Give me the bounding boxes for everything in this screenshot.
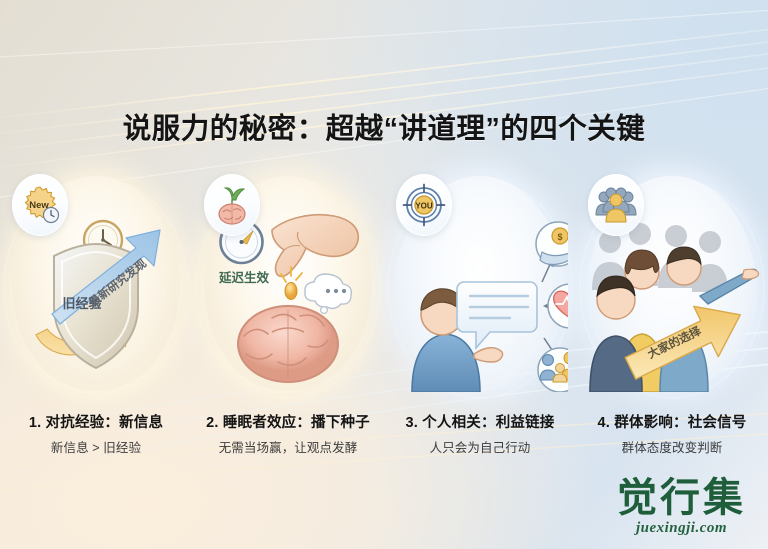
- caption-4: 4. 群体影响：社会信号 群体态度改变判断: [576, 415, 768, 456]
- caption-4-sub: 群体态度改变判断: [580, 441, 764, 456]
- caption-1: 1. 对抗经验：新信息 新信息 > 旧经验: [0, 415, 192, 456]
- panel-3-badge-chip[interactable]: YOU: [396, 174, 452, 236]
- heart-pulse-icon: [548, 284, 568, 328]
- brain-illustration: [238, 306, 338, 382]
- caption-3-sub: 人只会为自己行动: [388, 441, 572, 456]
- caption-1-sub: 新信息 > 旧经验: [4, 441, 188, 456]
- captions-row: 1. 对抗经验：新信息 新信息 > 旧经验 2. 睡眠者效应：播下种子 无需当场…: [0, 415, 768, 456]
- panel-3[interactable]: YOU: [384, 168, 576, 400]
- speech-bubble: [457, 282, 537, 348]
- svg-text:$: $: [557, 232, 562, 242]
- money-hand-icon: $: [536, 222, 568, 266]
- family-icon: [538, 348, 568, 392]
- brain-sprout-icon: [211, 183, 253, 227]
- caption-4-head: 4. 群体影响：社会信号: [580, 415, 764, 432]
- crowd-group-icon: [594, 185, 638, 225]
- caption-3-head: 3. 个人相关：利益链接: [388, 415, 572, 432]
- target-you-icon: YOU: [402, 183, 446, 227]
- new-burst-clock-icon: New: [18, 183, 62, 227]
- caption-2-head: 2. 睡眠者效应：播下种子: [196, 415, 380, 432]
- caption-2: 2. 睡眠者效应：播下种子 无需当场赢，让观点发酵: [192, 415, 384, 456]
- stopwatch-label: 延迟生效: [218, 270, 270, 285]
- page-title: 说服力的秘密：超越“讲道理”的四个关键: [0, 106, 768, 147]
- panel-4-badge-chip[interactable]: [588, 174, 644, 236]
- panel-4[interactable]: 大家的选择: [576, 168, 768, 400]
- panels-row: New: [0, 168, 768, 400]
- page-title-wrap: 说服力的秘密：超越“讲道理”的四个关键: [0, 106, 768, 147]
- hand-dropping-seed: [272, 215, 358, 277]
- caption-2-sub: 无需当场赢，让观点发酵: [196, 441, 380, 456]
- panel-2[interactable]: 延迟生效: [192, 168, 384, 400]
- watermark-en: juexingji.com: [617, 520, 746, 537]
- panel-2-badge-chip[interactable]: [204, 174, 260, 236]
- panel-1[interactable]: New: [0, 168, 192, 400]
- caption-1-head: 1. 对抗经验：新信息: [4, 415, 188, 432]
- caption-3: 3. 个人相关：利益链接 人只会为自己行动: [384, 415, 576, 456]
- you-badge-label: YOU: [415, 202, 433, 211]
- infographic-poster: 说服力的秘密：超越“讲道理”的四个关键 New: [0, 0, 768, 549]
- watermark-cn: 觉行集: [617, 478, 746, 518]
- watermark: 觉行集 juexingji.com: [617, 478, 746, 537]
- panel-1-badge-chip[interactable]: New: [12, 174, 68, 236]
